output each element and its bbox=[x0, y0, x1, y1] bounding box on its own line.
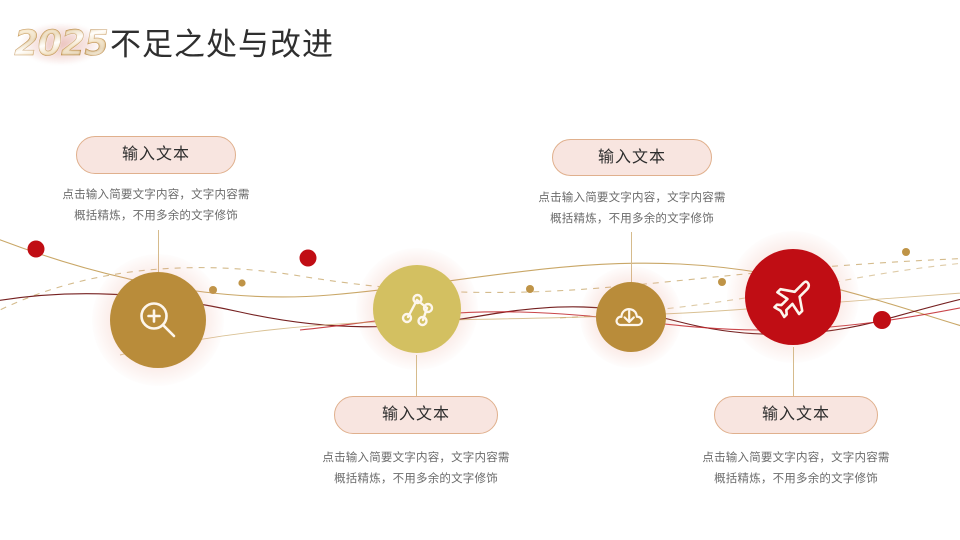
node-1-bubble[interactable]: 输入文本 bbox=[76, 136, 236, 174]
node-2-description: 点击输入简要文字内容，文字内容需 概括精炼，不用多余的文字修饰 bbox=[296, 448, 536, 490]
node-4-connector bbox=[793, 347, 794, 398]
node-1-bubble-label: 输入文本 bbox=[122, 147, 190, 163]
node-1-desc-line-2: 概括精炼，不用多余的文字修饰 bbox=[36, 206, 276, 227]
node-3-bubble[interactable]: 输入文本 bbox=[552, 139, 712, 176]
node-graph-icon bbox=[395, 287, 439, 331]
decor-dot-gold-right bbox=[902, 248, 910, 256]
node-2-desc-line-1: 点击输入简要文字内容，文字内容需 bbox=[296, 448, 536, 469]
slide-canvas: 2025 不足之处与改进 输入文本 点击输入简要文字内容，文字内容需 概括精炼，… bbox=[0, 0, 960, 540]
decor-dot-red-left bbox=[28, 241, 45, 258]
node-2-bubble-label: 输入文本 bbox=[382, 407, 450, 423]
node-4-circle[interactable] bbox=[745, 249, 841, 345]
cloud-download-icon bbox=[612, 298, 650, 336]
node-1-desc-line-1: 点击输入简要文字内容，文字内容需 bbox=[36, 185, 276, 206]
zoom-in-icon bbox=[134, 296, 182, 344]
decor-dot-red-right bbox=[873, 311, 891, 329]
decor-dot-gold-lower bbox=[526, 285, 534, 293]
node-2-desc-line-2: 概括精炼，不用多余的文字修饰 bbox=[296, 469, 536, 490]
page-title: 不足之处与改进 bbox=[110, 24, 334, 66]
decor-dot-gold-mid bbox=[238, 279, 245, 286]
node-3-desc-line-1: 点击输入简要文字内容，文字内容需 bbox=[512, 188, 752, 209]
node-2-circle[interactable] bbox=[373, 265, 461, 353]
node-3-circle[interactable] bbox=[596, 282, 666, 352]
node-1-description: 点击输入简要文字内容，文字内容需 概括精炼，不用多余的文字修饰 bbox=[36, 185, 276, 227]
node-4-bubble-label: 输入文本 bbox=[762, 407, 830, 423]
decor-dot-red-mid bbox=[300, 250, 317, 267]
decor-dot-gold-center bbox=[718, 278, 726, 286]
node-4-desc-line-2: 概括精炼，不用多余的文字修饰 bbox=[676, 469, 916, 490]
node-4-description: 点击输入简要文字内容，文字内容需 概括精炼，不用多余的文字修饰 bbox=[676, 448, 916, 490]
year-badge-label: 2025 bbox=[14, 24, 107, 64]
node-2-connector bbox=[416, 355, 417, 398]
node-3-bubble-label: 输入文本 bbox=[598, 150, 666, 166]
node-2-bubble[interactable]: 输入文本 bbox=[334, 396, 498, 434]
node-4-desc-line-1: 点击输入简要文字内容，文字内容需 bbox=[676, 448, 916, 469]
slide-header: 2025 不足之处与改进 bbox=[0, 0, 960, 95]
node-3-desc-line-2: 概括精炼，不用多余的文字修饰 bbox=[512, 209, 752, 230]
airplane-icon bbox=[768, 272, 818, 322]
node-1-circle[interactable] bbox=[110, 272, 206, 368]
year-badge: 2025 bbox=[20, 21, 102, 67]
node-3-description: 点击输入简要文字内容，文字内容需 概括精炼，不用多余的文字修饰 bbox=[512, 188, 752, 230]
node-4-bubble[interactable]: 输入文本 bbox=[714, 396, 878, 434]
